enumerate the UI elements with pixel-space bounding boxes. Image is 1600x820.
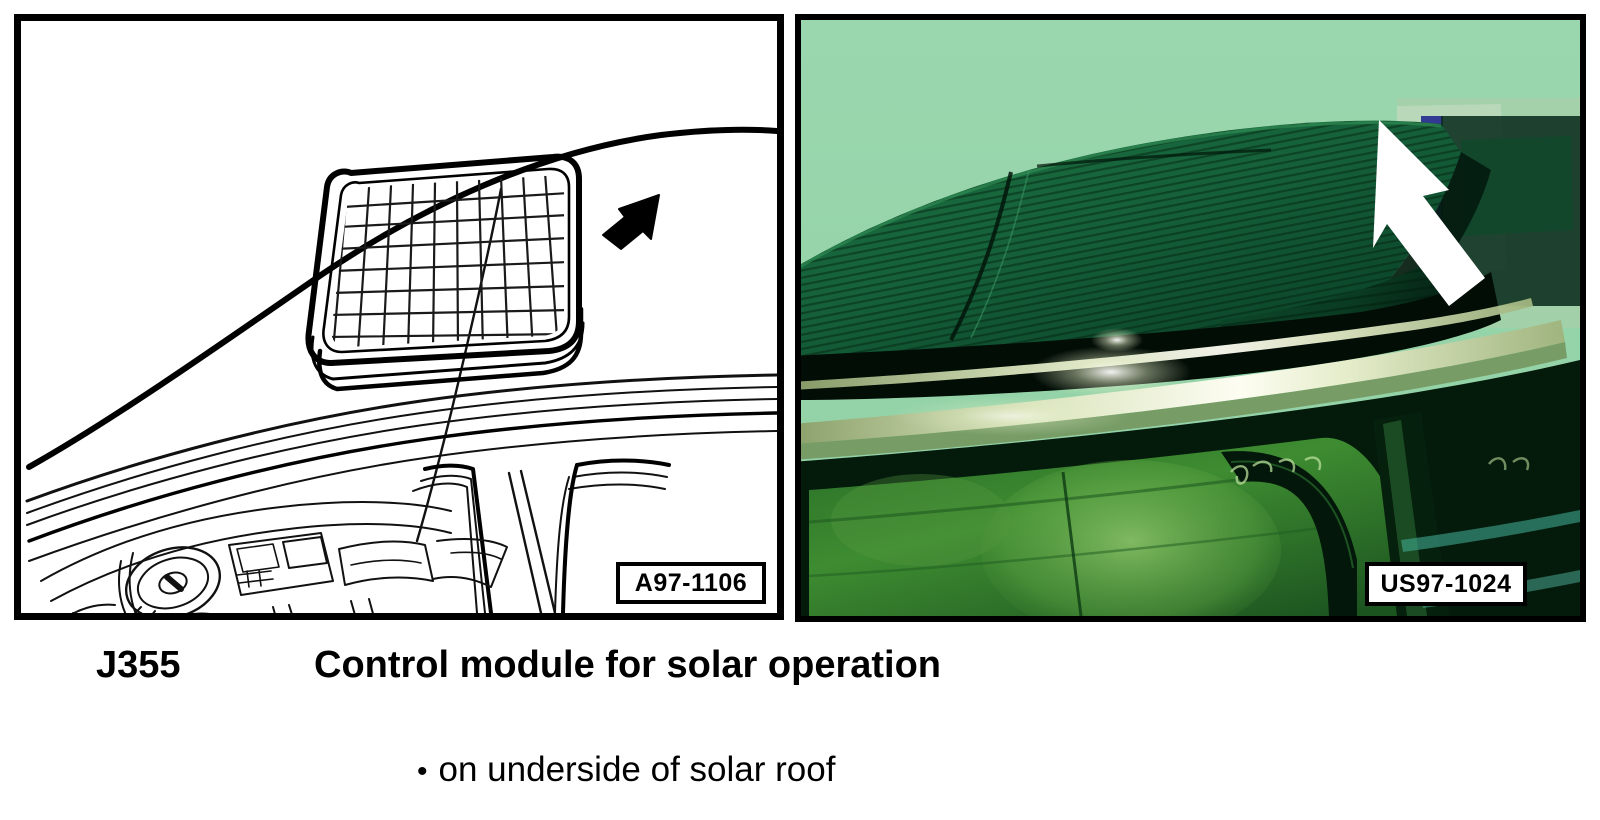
figure-page: A97-1106 [0,0,1600,820]
black-arrow-icon [603,195,659,249]
right-figure-panel: US97-1024 [795,14,1586,622]
left-figure-code-label: A97-1106 [616,562,766,604]
right-figure-code-label: US97-1024 [1365,562,1527,606]
component-name: Control module for solar operation [314,644,941,687]
left-figure-panel: A97-1106 [14,14,784,620]
line-drawing-illustration [21,21,777,613]
note-text: on underside of solar roof [439,750,836,790]
figure-row: A97-1106 [0,0,1600,626]
solar-roof-photograph [801,20,1580,616]
component-code: J355 [96,644,314,687]
photo-stage [801,20,1580,616]
caption-main-row: J355 Control module for solar operation [96,640,1496,690]
bullet-point-icon: • [417,757,428,787]
note-bullet-row: • on underside of solar roof [417,750,835,790]
caption-block: J355 Control module for solar operation … [0,626,1600,820]
